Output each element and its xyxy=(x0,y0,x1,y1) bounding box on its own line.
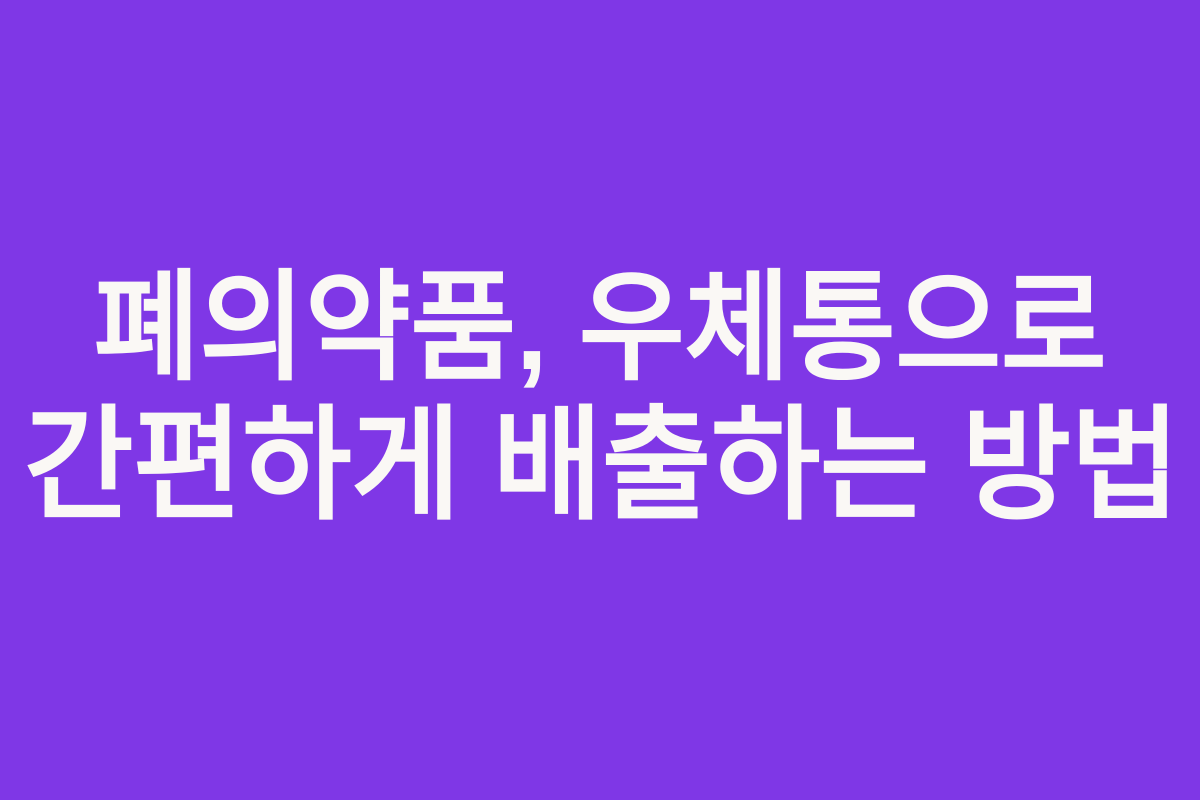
poster-canvas: 폐의약품, 우체통으로 간편하게 배출하는 방법 xyxy=(0,0,1200,800)
headline-line-1: 폐의약품, 우체통으로 xyxy=(24,259,1176,397)
headline-line-2: 간편하게 배출하는 방법 xyxy=(24,397,1176,535)
headline-block: 폐의약품, 우체통으로 간편하게 배출하는 방법 xyxy=(0,259,1200,535)
